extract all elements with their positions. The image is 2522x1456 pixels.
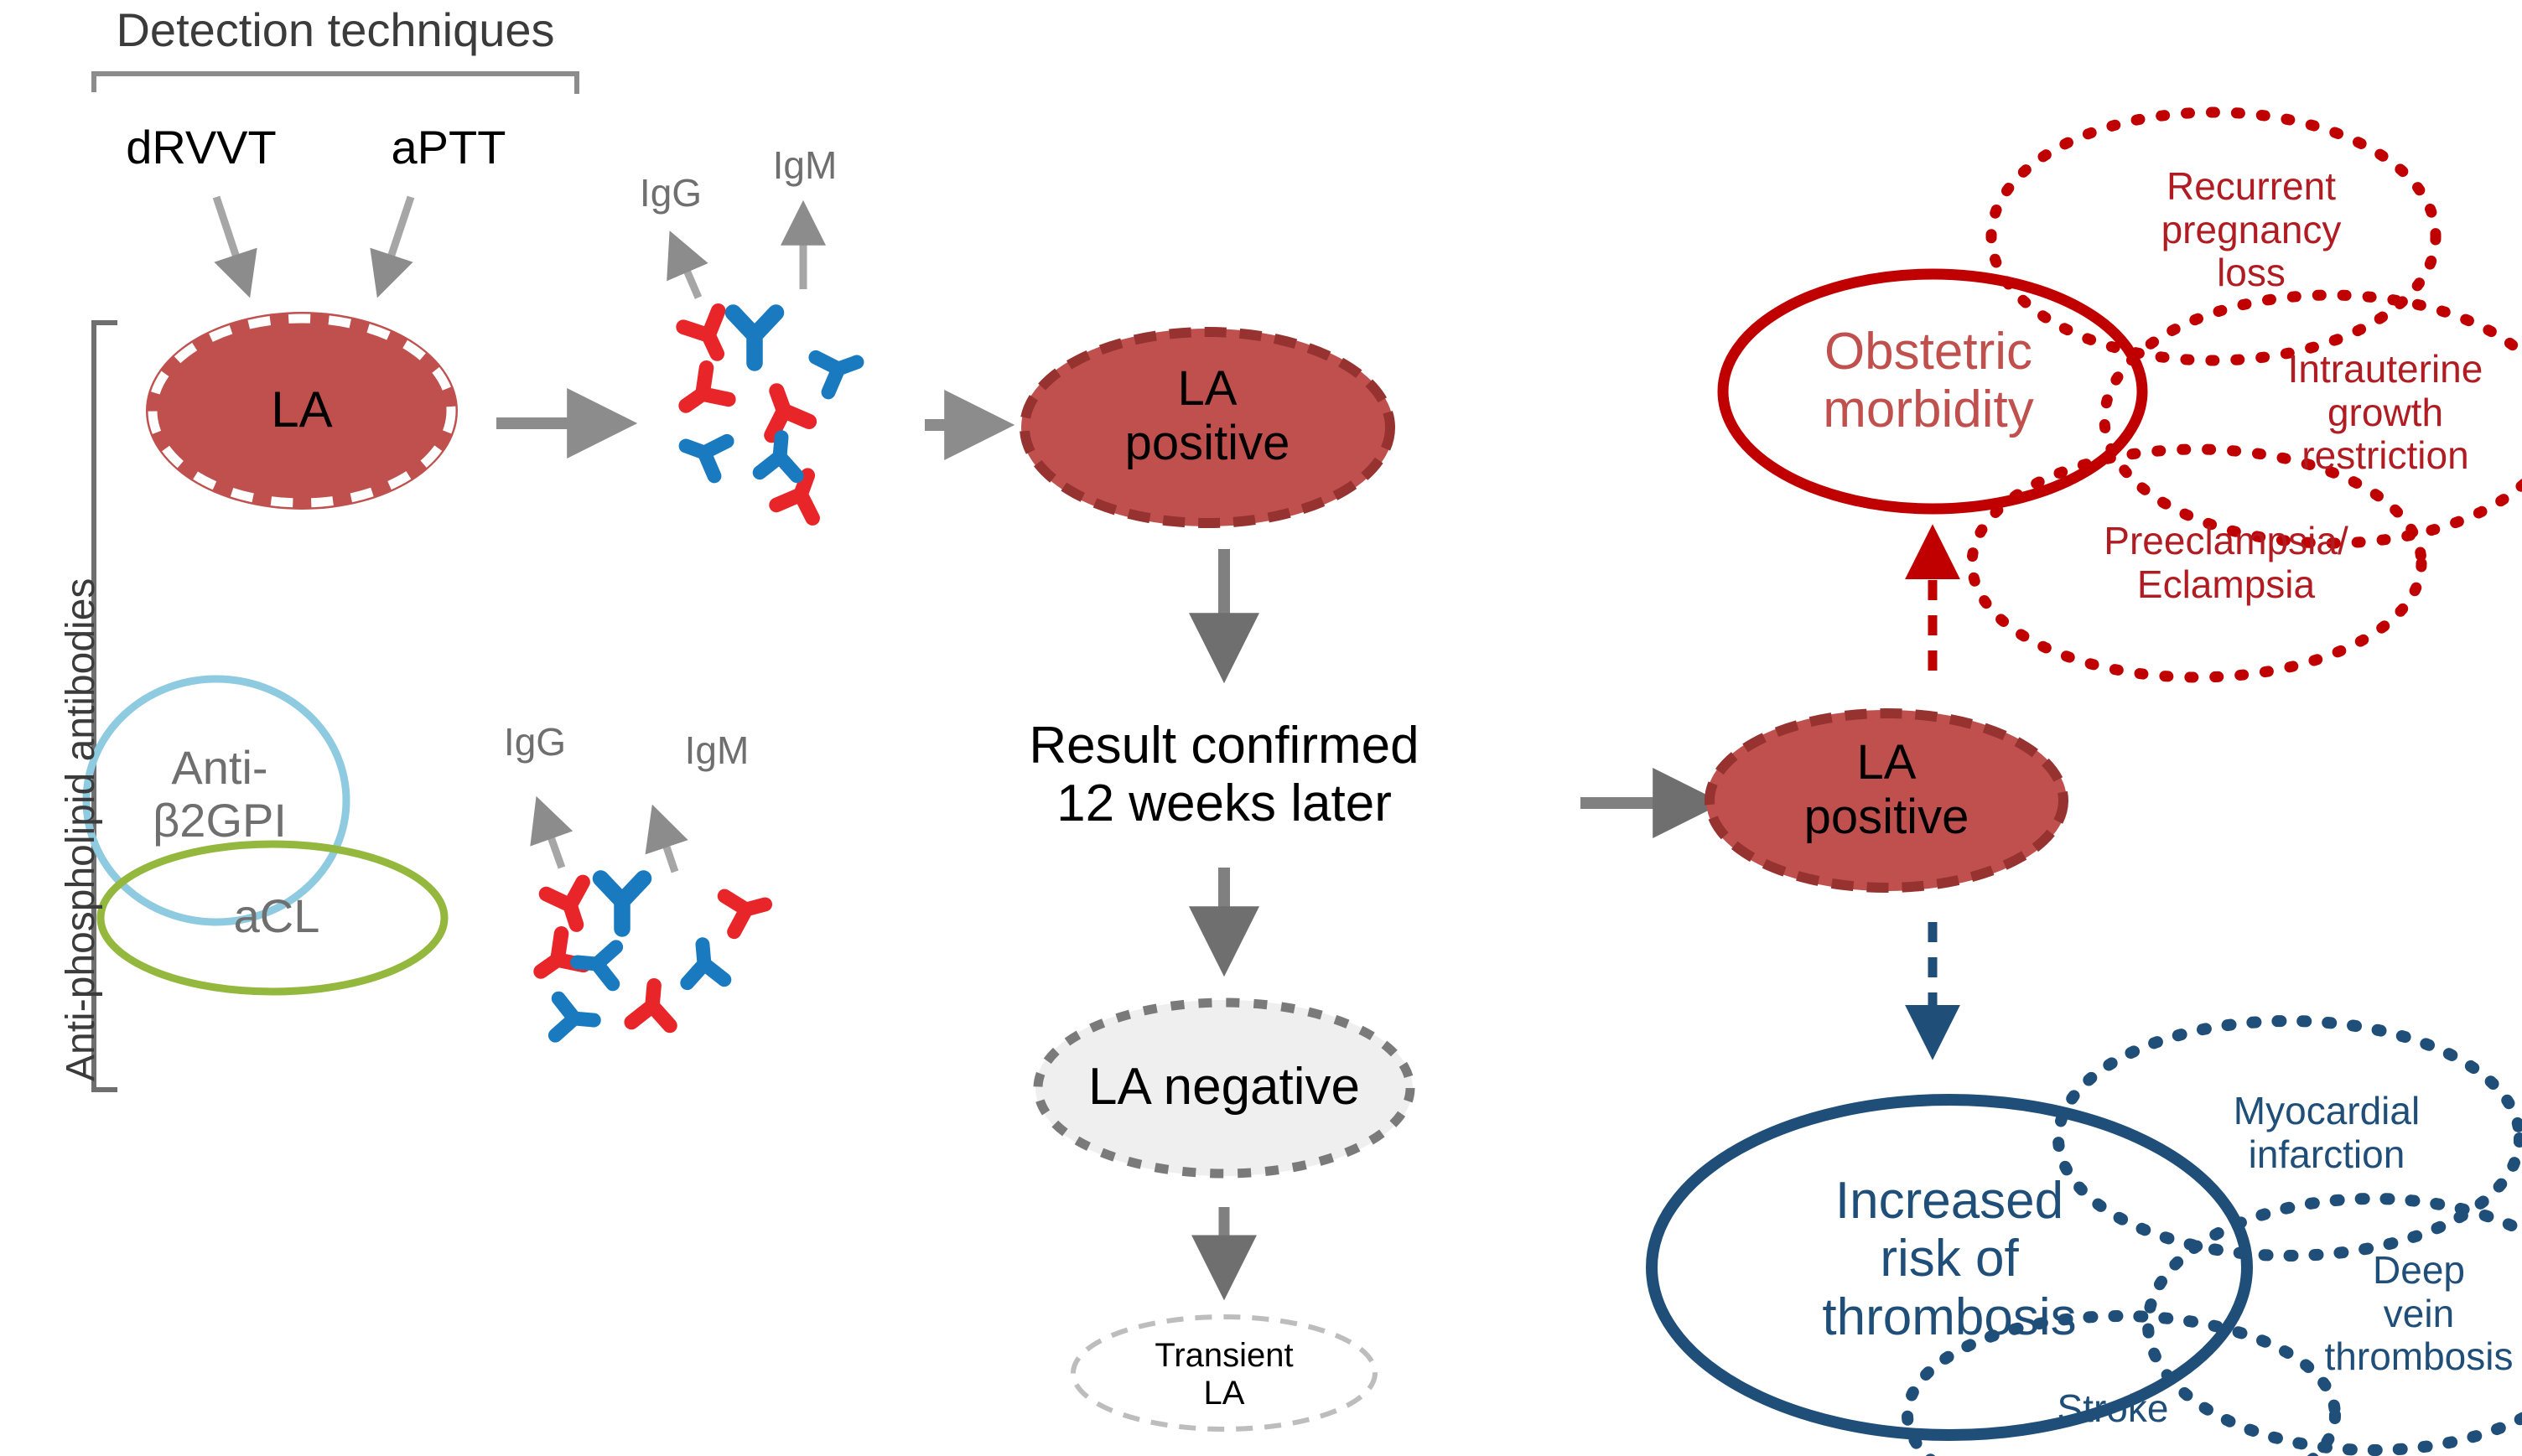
intrauterine-growth-restriction-label: Intrauterine growth restriction xyxy=(2288,348,2483,478)
igm-label-upper: IgM xyxy=(773,144,838,188)
igg-arrow-lower xyxy=(541,809,562,868)
aptt-arrow xyxy=(381,197,411,285)
igm-label-lower: IgM xyxy=(685,729,750,773)
stroke-label: Stroke xyxy=(2058,1387,2169,1431)
igm-arrow-lower xyxy=(656,817,675,872)
drvvt-arrow xyxy=(216,197,246,285)
la-positive-label-2: LA positive xyxy=(1804,736,1969,845)
technique-label-drvvt: dRVVT xyxy=(126,122,276,174)
igg-label-upper: IgG xyxy=(640,172,702,215)
increased-risk-thrombosis-label: Increased risk of thrombosis xyxy=(1822,1172,2076,1346)
result-confirmed-label: Result confirmed 12 weeks later xyxy=(1029,717,1419,833)
detection-bracket xyxy=(94,74,577,94)
la-negative-label: LA negative xyxy=(1088,1058,1360,1116)
recurrent-pregnancy-loss-label: Recurrent pregnancy loss xyxy=(2161,165,2342,295)
antibody-cluster-upper xyxy=(675,311,864,518)
antibody-cluster-lower xyxy=(530,878,770,1039)
la-positive-label-1: LA positive xyxy=(1125,362,1290,471)
igg-arrow-upper xyxy=(675,243,698,298)
igg-label-lower: IgG xyxy=(504,721,566,764)
deep-vein-thrombosis-label: Deep vein thrombosis xyxy=(2325,1249,2514,1379)
myocardial-infarction-label: Myocardial infarction xyxy=(2234,1090,2420,1176)
acl-label: aCL xyxy=(234,890,320,943)
la-ellipse-label: LA xyxy=(271,381,332,438)
technique-label-aptt: aPTT xyxy=(392,122,506,174)
preeclampsia-eclampsia-label: Preeclampsia/ Eclampsia xyxy=(2104,520,2348,606)
obstetric-morbidity-label: Obstetric morbidity xyxy=(1823,323,2034,439)
antiphospholipid-antibodies-label: Anti-phospholipid antibodies xyxy=(59,578,104,1081)
detection-techniques-title: Detection techniques xyxy=(116,4,554,57)
diagram-canvas: Detection techniques dRVVT aPTT Anti-pho… xyxy=(0,0,2522,1456)
transient-la-label: Transient LA xyxy=(1155,1337,1293,1412)
anti-b2gpi-label: Anti- β2GPI xyxy=(153,742,287,847)
